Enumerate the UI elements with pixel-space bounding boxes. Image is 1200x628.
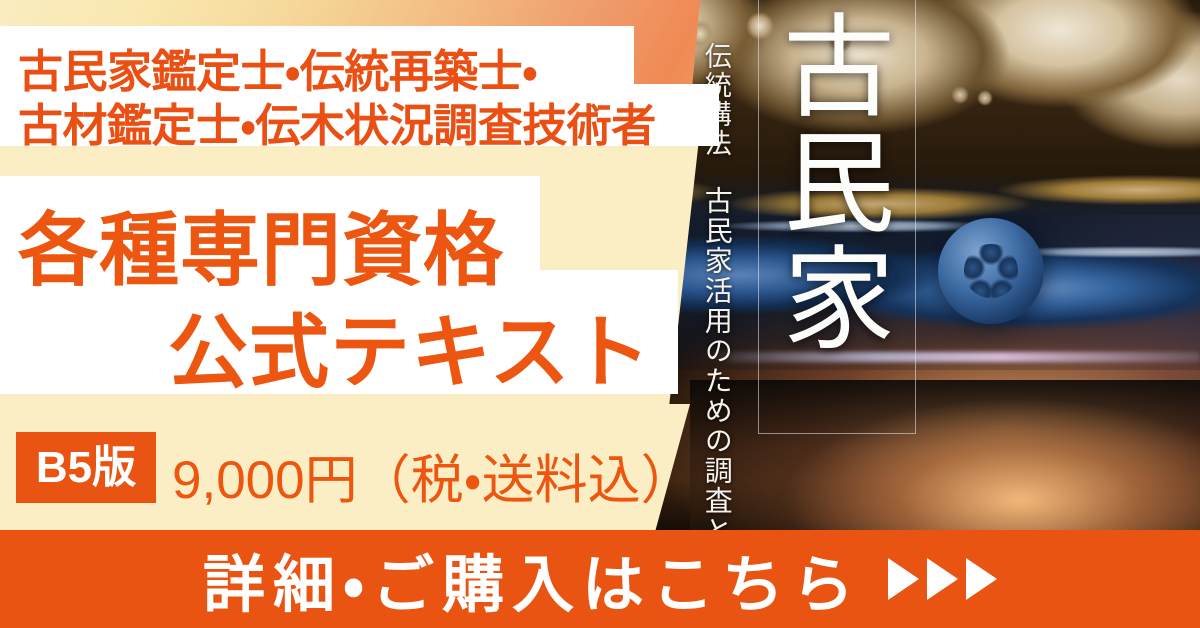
format-badge-label: B5版 xyxy=(36,446,136,490)
header-line2: 古材鑑定士・伝木状況調査技術者 xyxy=(18,89,656,154)
cta-bar[interactable]: 詳細・ご購入はこちら xyxy=(0,530,1200,628)
family-crest-medallion-icon xyxy=(938,218,1044,324)
format-badge: B5版 xyxy=(16,432,156,503)
book-cover-title: 古民家 xyxy=(770,8,890,356)
play-arrow-icon xyxy=(966,558,997,600)
play-arrow-icon xyxy=(927,558,958,600)
play-arrow-icon xyxy=(888,558,919,600)
promo-banner: 古民家 伝統構法 古民家活用のための調査と再生の 古民家鑑定士・伝統再築士・ 古… xyxy=(0,0,1200,628)
cta-label: 詳細・ご購入はこちら xyxy=(203,534,862,624)
headline-line2: 公式テキスト xyxy=(168,288,652,404)
cta-arrows xyxy=(888,558,997,600)
headline-line1: 各種専門資格 xyxy=(18,186,504,302)
price-label: 9,000円（税・送料込） xyxy=(172,438,694,514)
